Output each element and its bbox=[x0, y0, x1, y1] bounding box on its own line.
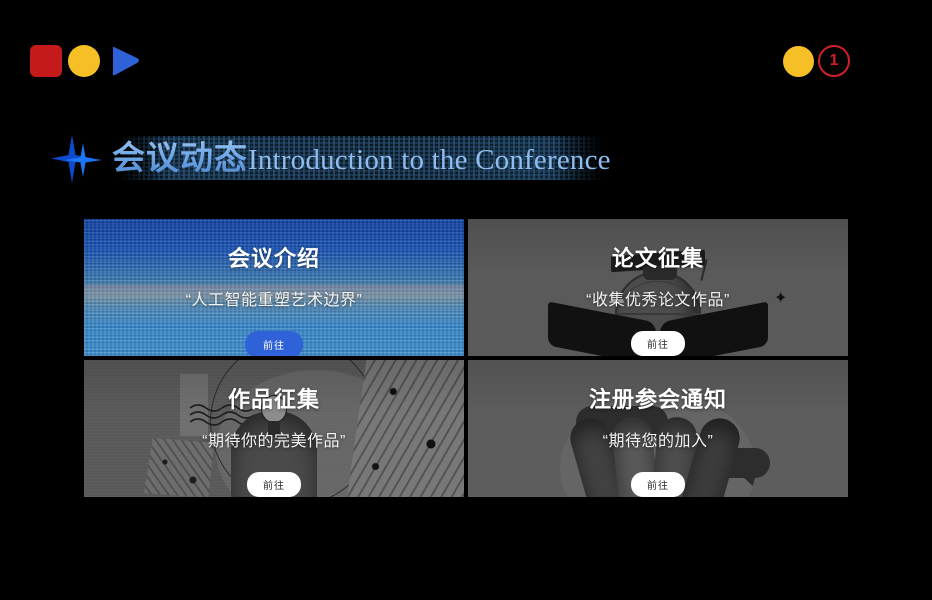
card-subtitle: “人工智能重塑艺术边界” bbox=[186, 286, 363, 310]
card-works-call[interactable]: 作品征集 “期待你的完美作品” 前往 bbox=[84, 360, 464, 497]
top-shape-bar: 1 bbox=[0, 0, 932, 110]
conference-card-grid: 会议介绍 “人工智能重塑艺术边界” 前往 ✦ 论文征集 “收集优秀论文作品” 前… bbox=[84, 219, 848, 497]
card-registration-notice[interactable]: 注册参会通知 “期待您的加入” 前往 bbox=[468, 360, 848, 497]
blue-triangle-icon bbox=[110, 45, 142, 77]
card-title: 会议介绍 bbox=[228, 241, 320, 273]
card-subtitle: “期待您的加入” bbox=[603, 427, 714, 451]
card-goto-button[interactable]: 前往 bbox=[245, 331, 303, 356]
page-heading: 会议动态 Introduction to the Conference bbox=[50, 128, 611, 190]
red-square-icon bbox=[30, 45, 62, 77]
page-title-cn: 会议动态 bbox=[112, 131, 248, 179]
card-title: 论文征集 bbox=[612, 241, 704, 273]
card-paper-call[interactable]: ✦ 论文征集 “收集优秀论文作品” 前往 bbox=[468, 219, 848, 356]
card-subtitle: “收集优秀论文作品” bbox=[586, 286, 730, 310]
card-goto-button[interactable]: 前往 bbox=[631, 472, 685, 497]
card-goto-button[interactable]: 前往 bbox=[247, 472, 301, 497]
page-number-value: 1 bbox=[830, 53, 839, 69]
four-point-star-icon bbox=[50, 131, 106, 187]
card-goto-button[interactable]: 前往 bbox=[631, 331, 685, 356]
page-number-badge: 1 bbox=[818, 45, 850, 77]
card-subtitle: “期待你的完美作品” bbox=[202, 427, 346, 451]
card-title: 作品征集 bbox=[228, 382, 320, 414]
yellow-circle-right-icon bbox=[783, 46, 814, 77]
card-title: 注册参会通知 bbox=[589, 382, 727, 414]
card-conference-intro[interactable]: 会议介绍 “人工智能重塑艺术边界” 前往 bbox=[84, 219, 464, 356]
yellow-circle-icon bbox=[68, 45, 100, 77]
page-title-en: Introduction to the Conference bbox=[248, 144, 611, 177]
